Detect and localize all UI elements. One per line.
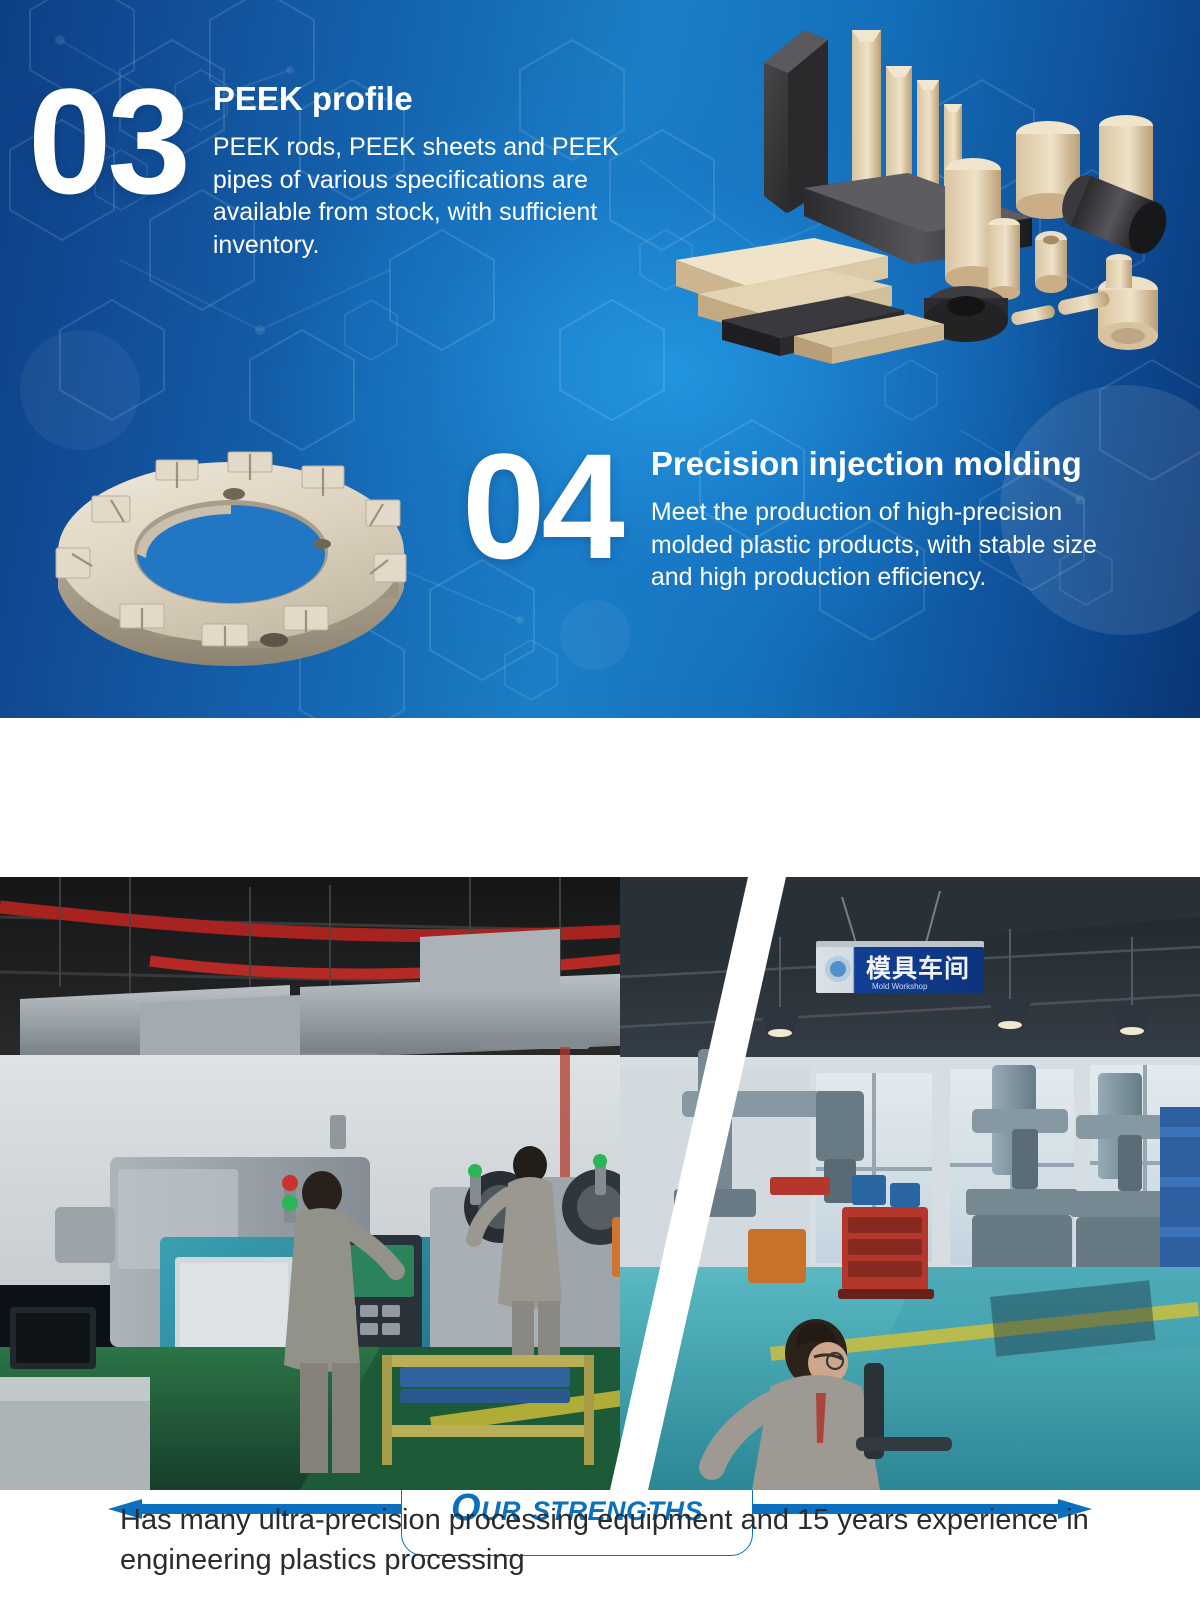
feature-title: Precision injection molding <box>651 446 1131 482</box>
feature-block-03: 03 PEEK profile PEEK rods, PEEK sheets a… <box>28 75 643 261</box>
hero-banner: 03 PEEK profile PEEK rods, PEEK sheets a… <box>0 0 1200 718</box>
peek-gear-ring-image <box>36 404 426 684</box>
cnc-workshop-photo <box>0 877 660 1490</box>
feature-description: PEEK rods, PEEK sheets and PEEK pipes of… <box>213 131 643 261</box>
mold-workshop-photo: 模具车间 Mold Workshop <box>620 877 1200 1490</box>
feature-description: Meet the production of high-precision mo… <box>651 496 1131 594</box>
peek-stock-shapes-image <box>676 18 1186 368</box>
strengths-divider: Our strengths <box>0 718 1200 877</box>
feature-title: PEEK profile <box>213 81 643 117</box>
workshop-photo-band: 模具车间 Mold Workshop <box>0 877 1200 1490</box>
product-feature-page: 03 PEEK profile PEEK rods, PEEK sheets a… <box>0 0 1200 1616</box>
decorative-circle <box>560 600 630 670</box>
feature-number: 03 <box>28 75 187 207</box>
page-caption: Has many ultra-precision processing equi… <box>120 1500 1100 1580</box>
feature-block-04: 04 Precision injection molding Meet the … <box>462 440 1131 594</box>
feature-number: 04 <box>462 440 621 572</box>
